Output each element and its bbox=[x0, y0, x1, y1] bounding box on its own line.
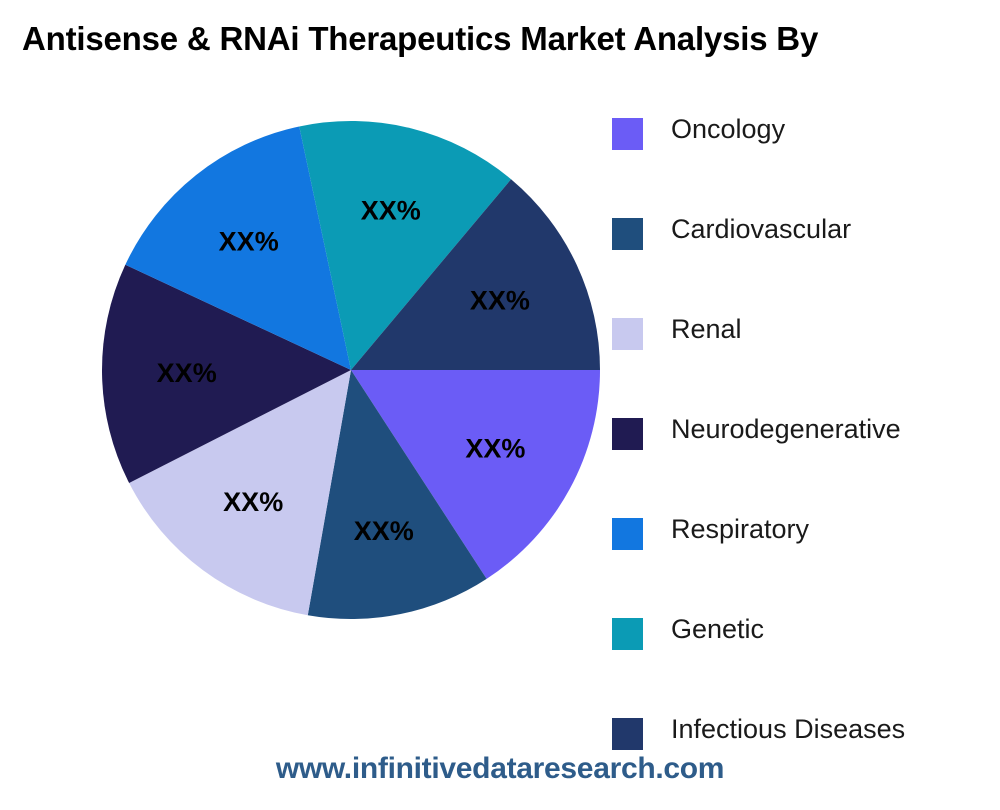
legend-swatch-icon bbox=[612, 618, 643, 650]
legend-item-label: Cardiovascular bbox=[671, 216, 851, 243]
legend-item-label: Renal bbox=[671, 316, 742, 343]
pie-slice-label: XX% bbox=[157, 358, 217, 388]
pie-slice-label: XX% bbox=[361, 196, 421, 226]
pie-slice-label: XX% bbox=[465, 433, 525, 463]
pie-slice-label: XX% bbox=[470, 286, 530, 316]
legend-item[interactable]: Cardiovascular bbox=[612, 210, 1000, 310]
pie-slice-label: XX% bbox=[219, 226, 279, 256]
pie-chart: XX%XX%XX%XX%XX%XX%XX% bbox=[0, 0, 620, 680]
pie-chart-svg: XX%XX%XX%XX%XX%XX%XX% bbox=[0, 0, 620, 680]
legend-item-label: Genetic bbox=[671, 616, 764, 643]
legend-item-label: Infectious Diseases bbox=[671, 716, 905, 743]
legend: OncologyCardiovascularRenalNeurodegenera… bbox=[612, 110, 1000, 810]
legend-item-label: Neurodegenerative bbox=[671, 416, 901, 443]
legend-swatch-icon bbox=[612, 218, 643, 250]
pie-slice-label: XX% bbox=[354, 516, 414, 546]
legend-swatch-icon bbox=[612, 718, 643, 750]
legend-swatch-icon bbox=[612, 318, 643, 350]
legend-item[interactable]: Oncology bbox=[612, 110, 1000, 210]
legend-item-label: Respiratory bbox=[671, 516, 809, 543]
watermark-url: www.infinitivedataresearch.com bbox=[0, 752, 1000, 786]
legend-item[interactable]: Renal bbox=[612, 310, 1000, 410]
legend-item[interactable]: Respiratory bbox=[612, 510, 1000, 610]
legend-item-label: Oncology bbox=[671, 116, 785, 143]
legend-swatch-icon bbox=[612, 418, 643, 450]
legend-item[interactable]: Genetic bbox=[612, 610, 1000, 710]
legend-item[interactable]: Neurodegenerative bbox=[612, 410, 1000, 510]
pie-slice-label: XX% bbox=[223, 487, 283, 517]
legend-swatch-icon bbox=[612, 118, 643, 150]
legend-swatch-icon bbox=[612, 518, 643, 550]
